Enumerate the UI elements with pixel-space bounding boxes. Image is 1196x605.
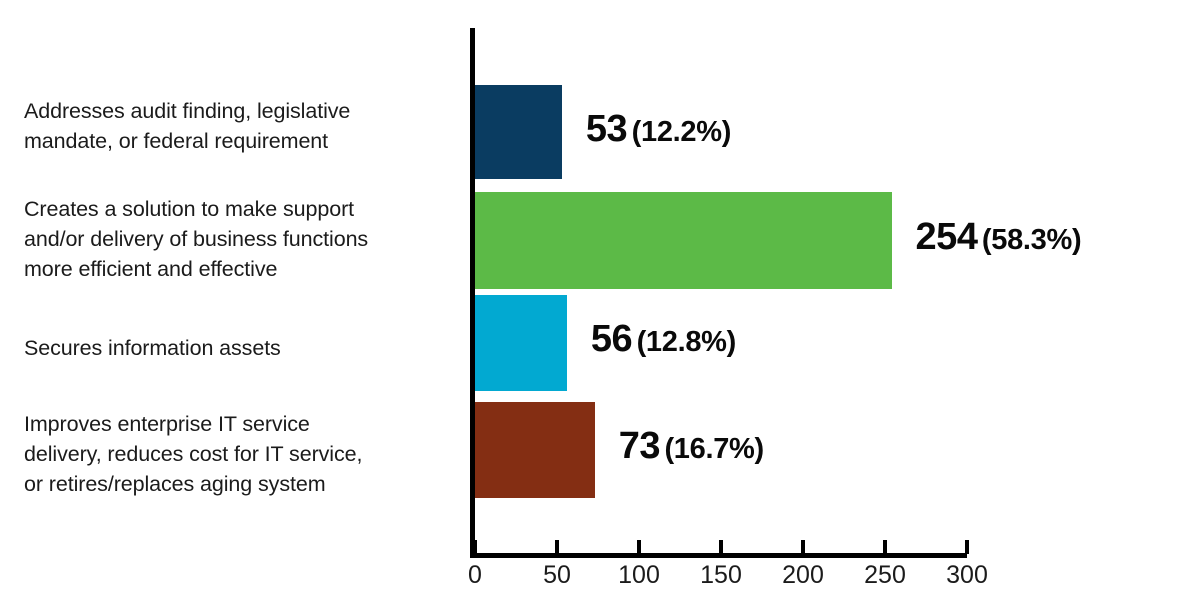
bar-value-0-percent: (12.2%) xyxy=(632,116,731,148)
category-label-3: Improves enterprise IT service delivery,… xyxy=(24,409,440,499)
bar-value-1: 254 (58.3%) xyxy=(916,216,1082,259)
category-label-1: Creates a solution to make support and/o… xyxy=(24,194,440,284)
category-label-3-line-3: or retires/replaces aging system xyxy=(24,472,326,496)
x-tick-200 xyxy=(801,540,805,554)
bar-value-0-number: 53 xyxy=(586,108,627,150)
category-label-1-line-3: more efficient and effective xyxy=(24,257,277,281)
bar-value-1-number: 254 xyxy=(916,216,978,258)
x-tick-300 xyxy=(965,540,969,554)
bar-value-2-number: 56 xyxy=(591,318,632,360)
category-axis-labels: Addresses audit finding, legislative man… xyxy=(0,0,462,605)
x-tick-0 xyxy=(473,540,477,554)
x-tick-100 xyxy=(637,540,641,554)
bar-value-2-percent: (12.8%) xyxy=(637,326,736,358)
x-tick-label-50: 50 xyxy=(543,560,571,590)
bar-value-3: 73 (16.7%) xyxy=(619,425,764,468)
bar-1 xyxy=(475,192,892,289)
category-label-1-line-2: and/or delivery of business functions xyxy=(24,227,368,251)
bar-chart: Addresses audit finding, legislative man… xyxy=(0,0,1196,605)
x-tick-label-300: 300 xyxy=(946,560,988,590)
x-tick-label-200: 200 xyxy=(782,560,824,590)
category-label-3-line-2: delivery, reduces cost for IT service, xyxy=(24,442,362,466)
bar-2 xyxy=(475,295,567,391)
x-tick-50 xyxy=(555,540,559,554)
bar-value-0: 53 (12.2%) xyxy=(586,108,731,151)
plot-area: 53 (12.2%) 254 (58.3%) 56 (12.8%) 73 (16… xyxy=(470,0,1196,605)
category-label-2-line-1: Secures information assets xyxy=(24,336,281,360)
bar-value-3-number: 73 xyxy=(619,425,660,467)
category-label-0-line-2: mandate, or federal requirement xyxy=(24,129,328,153)
x-tick-label-150: 150 xyxy=(700,560,742,590)
x-tick-label-0: 0 xyxy=(468,560,482,590)
category-label-2: Secures information assets xyxy=(24,333,440,363)
category-label-0-line-1: Addresses audit finding, legislative xyxy=(24,99,350,123)
x-tick-150 xyxy=(719,540,723,554)
bar-0 xyxy=(475,85,562,179)
bar-value-3-percent: (16.7%) xyxy=(664,433,763,465)
x-tick-250 xyxy=(883,540,887,554)
category-label-1-line-1: Creates a solution to make support xyxy=(24,197,354,221)
bar-3 xyxy=(475,402,595,498)
x-tick-label-250: 250 xyxy=(864,560,906,590)
bar-value-1-percent: (58.3%) xyxy=(982,224,1081,256)
category-label-0: Addresses audit finding, legislative man… xyxy=(24,96,440,156)
category-label-3-line-1: Improves enterprise IT service xyxy=(24,412,310,436)
bar-value-2: 56 (12.8%) xyxy=(591,318,736,361)
x-tick-label-100: 100 xyxy=(618,560,660,590)
